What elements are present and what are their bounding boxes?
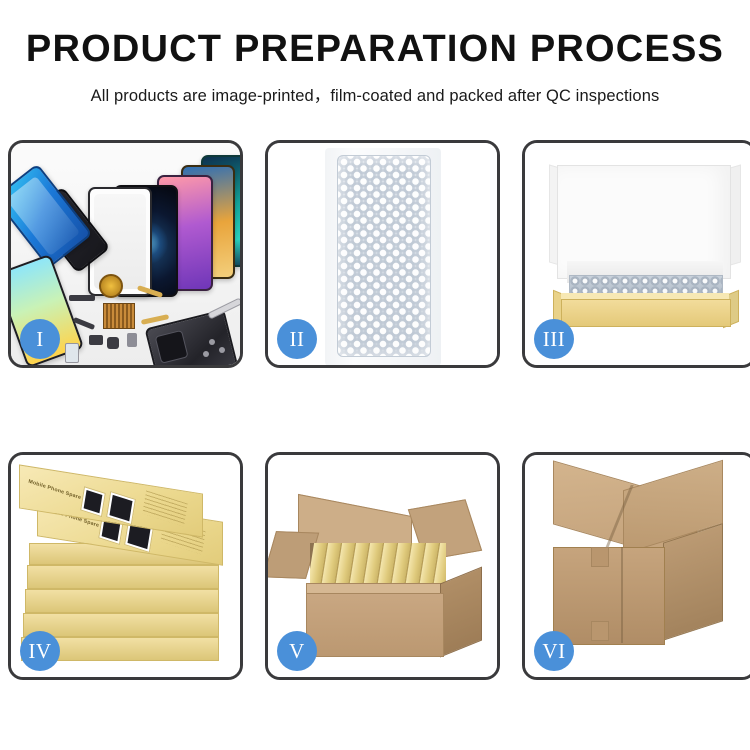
step-badge-1: I (20, 319, 60, 359)
step-badge-4: IV (20, 631, 60, 671)
process-step-panel-4: Mobile Phone Spare Parts Mobile Phone Sp… (8, 452, 243, 680)
box-spec-lines-1 (142, 490, 187, 526)
tape-strip-bottom (591, 621, 609, 641)
box-screen-graphic-1 (80, 486, 106, 517)
page-title: PRODUCT PREPARATION PROCESS (0, 30, 750, 70)
step-badge-5: V (277, 631, 317, 671)
process-step-panel-6: VI (522, 452, 750, 680)
box-front-yellow (561, 299, 731, 327)
process-step-panel-2: II (265, 140, 500, 368)
stack-box-side-3 (25, 589, 219, 613)
speaker-module (107, 337, 119, 349)
carton-front-face (306, 593, 444, 657)
button-part (127, 333, 137, 347)
header: PRODUCT PREPARATION PROCESS All products… (0, 0, 750, 106)
process-step-grid: I II III (8, 140, 742, 680)
connector-part-1 (69, 295, 95, 301)
screw-2 (219, 347, 225, 353)
step-badge-2: II (277, 319, 317, 359)
bubble-wrap-texture (337, 155, 431, 357)
carton-right-face (663, 523, 723, 640)
box-screen-graphic-2 (106, 491, 136, 525)
carton-side-face (440, 567, 482, 658)
screw-1 (209, 339, 215, 345)
sim-tray-part (65, 343, 79, 363)
tape-strip-top (591, 547, 609, 567)
carton-front-face-sealed (553, 547, 665, 645)
camera-module (89, 335, 103, 345)
process-step-panel-1: I (8, 140, 243, 368)
chip-part (103, 303, 135, 329)
page-subtitle: All products are image-printed，film-coat… (0, 82, 750, 106)
stack-box-side-2 (27, 565, 219, 589)
process-step-panel-5: V (265, 452, 500, 680)
coil-part (99, 274, 123, 298)
carton-front-seam (621, 547, 623, 643)
step-badge-6: VI (534, 631, 574, 671)
stack-box-side-4 (23, 613, 219, 637)
process-step-panel-3: III (522, 140, 750, 368)
step-badge-3: III (534, 319, 574, 359)
screw-3 (203, 351, 209, 357)
